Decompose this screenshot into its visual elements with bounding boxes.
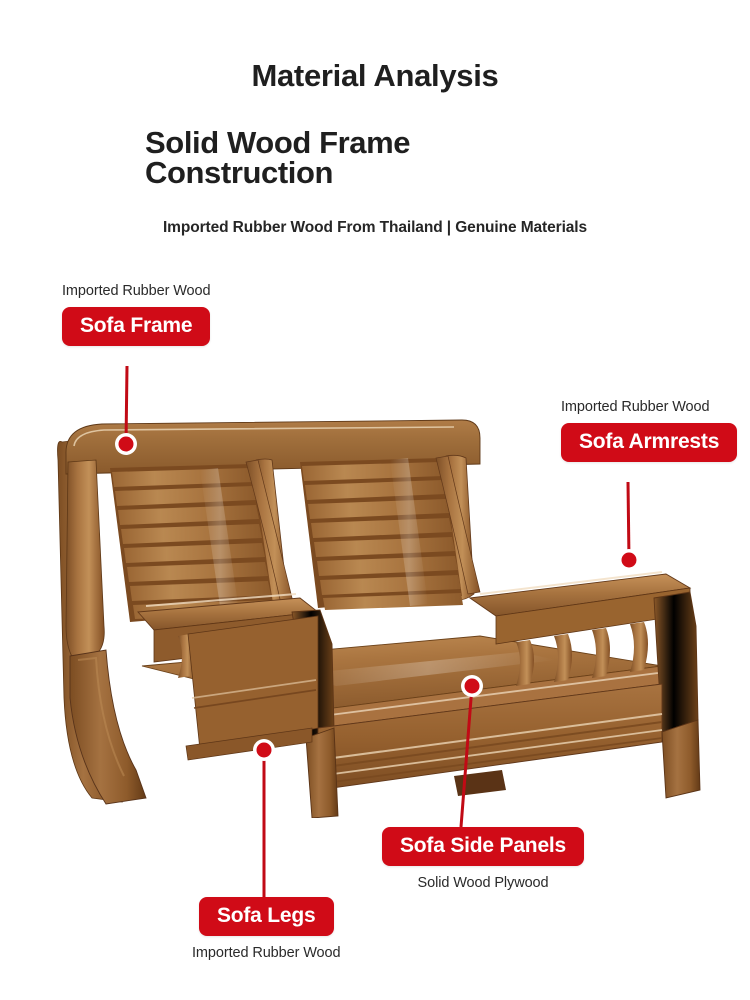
callout-sofa-armrests: Imported Rubber Wood Sofa Armrests [561, 399, 737, 462]
callout-sofa-side-panels: Sofa Side Panels Solid Wood Plywood [382, 827, 584, 891]
callout-sofa-armrests-caption: Imported Rubber Wood [561, 399, 737, 415]
callout-sofa-frame-caption: Imported Rubber Wood [62, 283, 210, 299]
callout-sofa-side-panels-caption: Solid Wood Plywood [382, 875, 584, 891]
subtitle: Imported Rubber Wood From Thailand | Gen… [0, 219, 750, 237]
sofa-body [66, 420, 710, 818]
callout-sofa-frame: Imported Rubber Wood Sofa Frame [62, 283, 210, 346]
page-title: Solid Wood Frame Construction [145, 128, 665, 188]
callout-sofa-legs: Sofa Legs Imported Rubber Wood [192, 897, 340, 961]
right-backrest-slats [300, 458, 463, 610]
callout-sofa-side-panels-badge[interactable]: Sofa Side Panels [382, 827, 584, 866]
page-title-line-2: Construction [145, 158, 665, 188]
callout-sofa-armrests-badge[interactable]: Sofa Armrests [561, 423, 737, 462]
infographic-canvas: Material Analysis Solid Wood Frame Const… [0, 0, 750, 1000]
center-foot [454, 770, 506, 796]
left-back-stile [66, 460, 104, 660]
callout-sofa-frame-badge[interactable]: Sofa Frame [62, 307, 210, 346]
callout-sofa-legs-badge[interactable]: Sofa Legs [199, 897, 334, 936]
eyebrow-title: Material Analysis [0, 58, 750, 94]
rear-right-leg [662, 720, 700, 798]
callout-sofa-legs-caption: Imported Rubber Wood [192, 945, 340, 961]
